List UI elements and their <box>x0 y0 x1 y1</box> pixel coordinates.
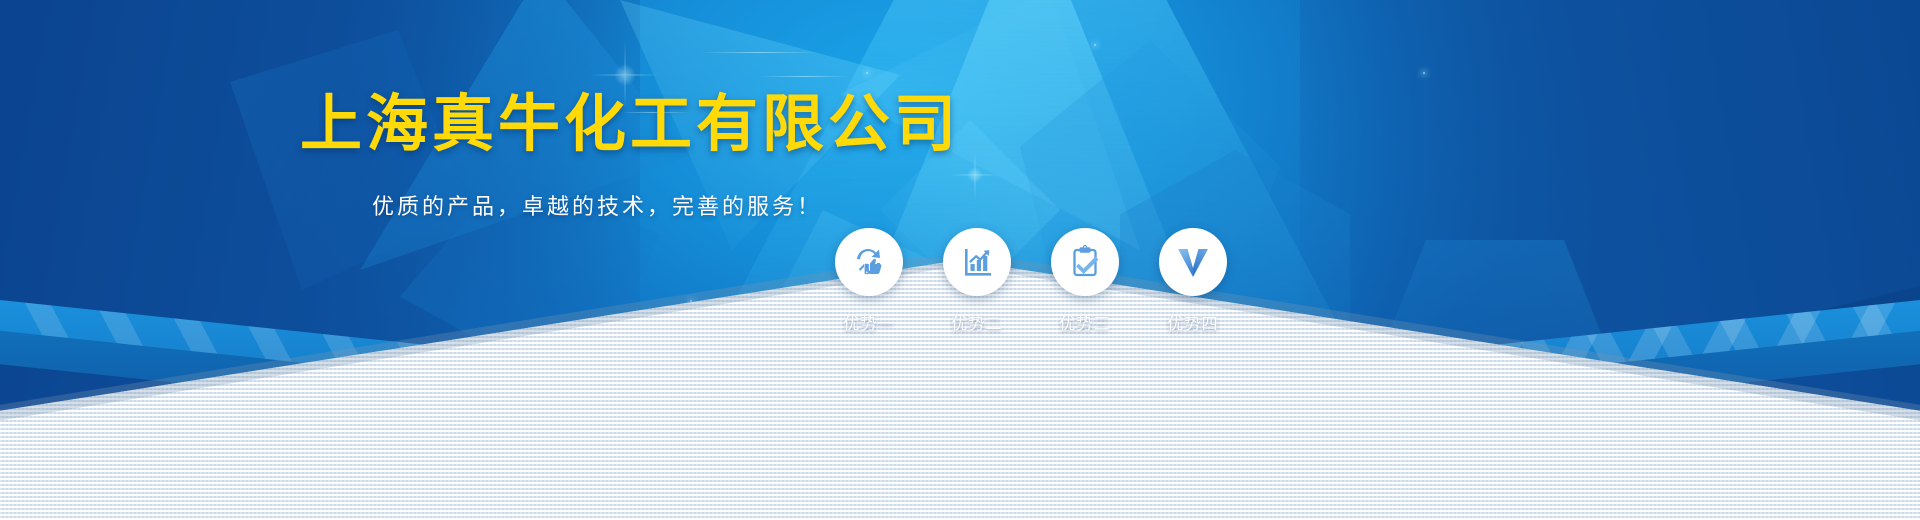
advantage-badge-2-label: 优势二 <box>951 310 1002 334</box>
advantage-badge-3-label: 优势三 <box>1059 310 1110 334</box>
clipboard-check-icon <box>1066 243 1104 281</box>
refresh-thumbs-up-icon <box>850 243 888 281</box>
advantage-badge-4[interactable]: 优势四 <box>1159 228 1227 334</box>
advantage-badge-2-circle <box>943 228 1011 296</box>
letter-v-icon <box>1173 242 1213 282</box>
bar-chart-growth-icon <box>958 243 996 281</box>
advantage-badge-3[interactable]: 优势三 <box>1051 228 1119 334</box>
advantage-badge-1-label: 优势一 <box>843 310 894 334</box>
advantage-badge-2[interactable]: 优势二 <box>943 228 1011 334</box>
advantage-badge-1-circle <box>835 228 903 296</box>
advantage-badge-3-circle <box>1051 228 1119 296</box>
advantage-badge-4-label: 优势四 <box>1167 310 1218 334</box>
company-hero-banner: 上海真牛化工有限公司 优质的产品，卓越的技术，完善的服务！ 优势一 <box>0 0 1920 520</box>
company-slogan: 优质的产品，卓越的技术，完善的服务！ <box>372 196 822 218</box>
advantage-badge-1[interactable]: 优势一 <box>835 228 903 334</box>
advantage-badge-4-circle <box>1159 228 1227 296</box>
company-title: 上海真牛化工有限公司 <box>300 94 960 156</box>
advantage-badge-list: 优势一 优势二 <box>835 228 1227 334</box>
banner-content: 上海真牛化工有限公司 优质的产品，卓越的技术，完善的服务！ 优势一 <box>0 0 1920 520</box>
